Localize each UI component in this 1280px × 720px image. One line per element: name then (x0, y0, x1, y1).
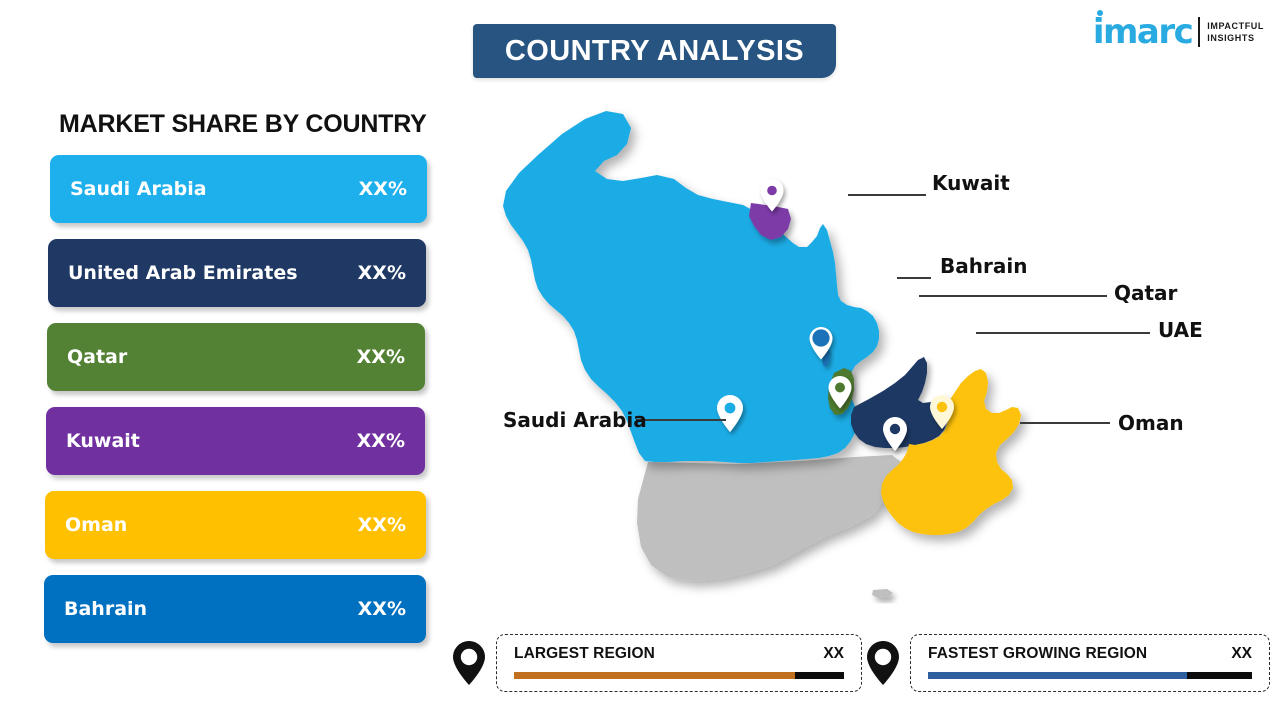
map-pin-icon-fastest (866, 640, 900, 686)
map-label-uae: UAE (1158, 318, 1203, 342)
slide-canvas: COUNTRY ANALYSIS imarc IMPACTFUL INSIGHT… (0, 0, 1280, 720)
market-share-country-label: United Arab Emirates (68, 262, 298, 284)
leader-line-kuwait (848, 194, 926, 196)
imarc-tagline-line1: IMPACTFUL (1207, 20, 1264, 32)
imarc-dot-icon (1097, 10, 1103, 16)
largest-region-box: LARGEST REGION XX (496, 634, 862, 692)
leader-line-bahrain (897, 277, 931, 279)
leader-line-qatar (919, 295, 1107, 297)
map-label-qatar: Qatar (1114, 281, 1177, 305)
imarc-wordmark: imarc (1093, 15, 1192, 49)
largest-region-item: LARGEST REGION XX (452, 634, 862, 692)
map-label-bahrain: Bahrain (940, 254, 1027, 278)
largest-region-progress-fill (514, 672, 795, 679)
imarc-wordmark-text: imarc (1093, 12, 1192, 52)
footer-legend: LARGEST REGION XX FASTEST GROWING REGION… (0, 626, 1280, 712)
market-share-country-label: Saudi Arabia (70, 178, 207, 200)
page-title-text: COUNTRY ANALYSIS (505, 35, 804, 68)
imarc-tagline: IMPACTFUL INSIGHTS (1207, 20, 1264, 44)
market-share-row[interactable]: KuwaitXX% (46, 407, 425, 475)
largest-region-label: LARGEST REGION (514, 645, 655, 663)
map-region-yemen (637, 455, 907, 581)
largest-region-progress-track (514, 672, 844, 679)
map-region-oman-exclave (872, 589, 893, 598)
market-share-value: XX% (357, 430, 405, 452)
map-label-oman: Oman (1118, 411, 1184, 435)
fastest-region-label: FASTEST GROWING REGION (928, 645, 1147, 663)
market-share-value: XX% (359, 178, 407, 200)
fastest-region-progress-track (928, 672, 1252, 679)
map-label-kuwait: Kuwait (932, 171, 1010, 195)
market-share-country-label: Kuwait (66, 430, 140, 452)
leader-line-uae (976, 332, 1150, 334)
market-share-heading: MARKET SHARE BY COUNTRY (59, 110, 427, 139)
leader-line-oman (1020, 422, 1110, 424)
market-share-value: XX% (358, 514, 406, 536)
market-share-country-label: Oman (65, 514, 127, 536)
market-share-row[interactable]: United Arab EmiratesXX% (48, 239, 426, 307)
logo-divider (1198, 17, 1200, 47)
market-share-country-label: Bahrain (64, 598, 147, 620)
market-share-row[interactable]: OmanXX% (45, 491, 426, 559)
market-share-row[interactable]: Saudi ArabiaXX% (50, 155, 427, 223)
page-title: COUNTRY ANALYSIS (473, 24, 836, 78)
market-share-value: XX% (358, 262, 406, 284)
map-pin-icon-largest (452, 640, 486, 686)
leader-line-saudi-arabia (636, 419, 726, 421)
imarc-logo: imarc IMPACTFUL INSIGHTS (1093, 12, 1264, 52)
fastest-region-box: FASTEST GROWING REGION XX (910, 634, 1270, 692)
market-share-value: XX% (357, 346, 405, 368)
largest-region-value: XX (805, 645, 844, 663)
imarc-tagline-line2: INSIGHTS (1207, 32, 1264, 44)
fastest-region-value: XX (1213, 645, 1252, 663)
fastest-region-item: FASTEST GROWING REGION XX (866, 634, 1270, 692)
fastest-region-progress-fill (928, 672, 1187, 679)
market-share-row[interactable]: QatarXX% (47, 323, 425, 391)
market-share-value: XX% (358, 598, 406, 620)
market-share-list: Saudi ArabiaXX%United Arab EmiratesXX%Qa… (0, 155, 440, 659)
market-share-country-label: Qatar (67, 346, 127, 368)
map-label-saudi-arabia: Saudi Arabia (503, 408, 647, 432)
